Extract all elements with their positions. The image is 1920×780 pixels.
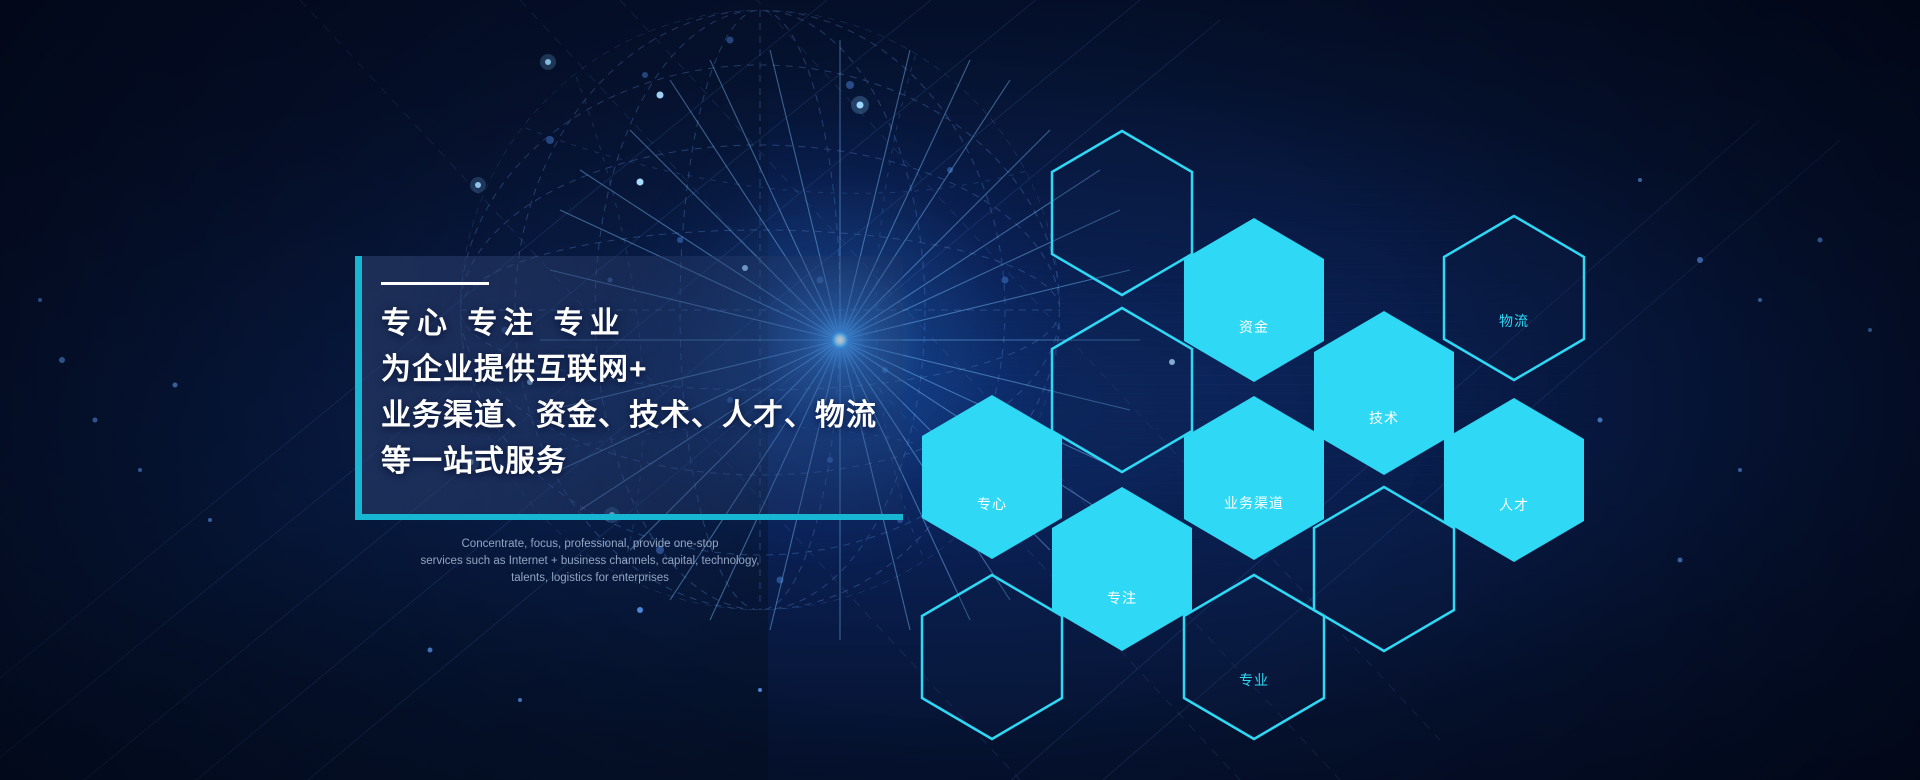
hex-ecommerce-cart[interactable]: e — [1310, 484, 1458, 654]
hex-label: 技术 — [1310, 408, 1458, 428]
hex-zijin[interactable]: 资金 — [1180, 215, 1328, 385]
hexagon-grid: 资金 技术 — [0, 0, 1920, 780]
hex-label: 物流 — [1440, 311, 1588, 331]
hex-zhuanye[interactable]: 专业 — [1180, 572, 1328, 742]
hex-yewuqudao[interactable]: 业务渠道 — [1180, 393, 1328, 563]
hex-label: 专业 — [1180, 670, 1328, 690]
hex-zhuanzhu[interactable]: 专注 — [1048, 484, 1196, 654]
hex-label: 资金 — [1180, 317, 1328, 337]
headline-line-4: 等一站式服务 — [381, 439, 941, 485]
subtitle-line-1: Concentrate, focus, professional, provid… — [380, 536, 800, 553]
decorative-rule — [381, 282, 489, 285]
subtitle-block: Concentrate, focus, professional, provid… — [380, 536, 800, 587]
subtitle-line-3: talents, logistics for enterprises — [380, 570, 800, 587]
hex-label: 人才 — [1440, 495, 1588, 515]
headline-text-block: 专心 专注 专业 为企业提供互联网+ 业务渠道、资金、技术、人才、物流 等一站式… — [381, 270, 941, 485]
hex-layers[interactable] — [1048, 128, 1196, 298]
hex-jishu[interactable]: 技术 — [1310, 308, 1458, 478]
hex-atom[interactable] — [918, 572, 1066, 742]
hex-wuliu[interactable]: 物流 — [1440, 213, 1588, 383]
headline-line-3: 业务渠道、资金、技术、人才、物流 — [381, 393, 941, 439]
headline-line-2: 为企业提供互联网+ — [381, 347, 941, 393]
hex-label: 专心 — [918, 494, 1066, 514]
subtitle-line-2: services such as Internet + business cha… — [380, 553, 800, 570]
svg-text:e: e — [1340, 550, 1351, 572]
hero-banner: 资金 技术 — [0, 0, 1920, 780]
headline-line-1: 专心 专注 专业 — [381, 301, 941, 347]
hex-rencai[interactable]: 人才 — [1440, 395, 1588, 565]
hex-label: 专注 — [1048, 588, 1196, 608]
panel-bottom-accent-bar — [355, 514, 903, 520]
hex-growth-chart[interactable] — [1048, 305, 1196, 475]
hex-label: 业务渠道 — [1180, 493, 1328, 513]
panel-left-accent-bar — [355, 256, 362, 520]
